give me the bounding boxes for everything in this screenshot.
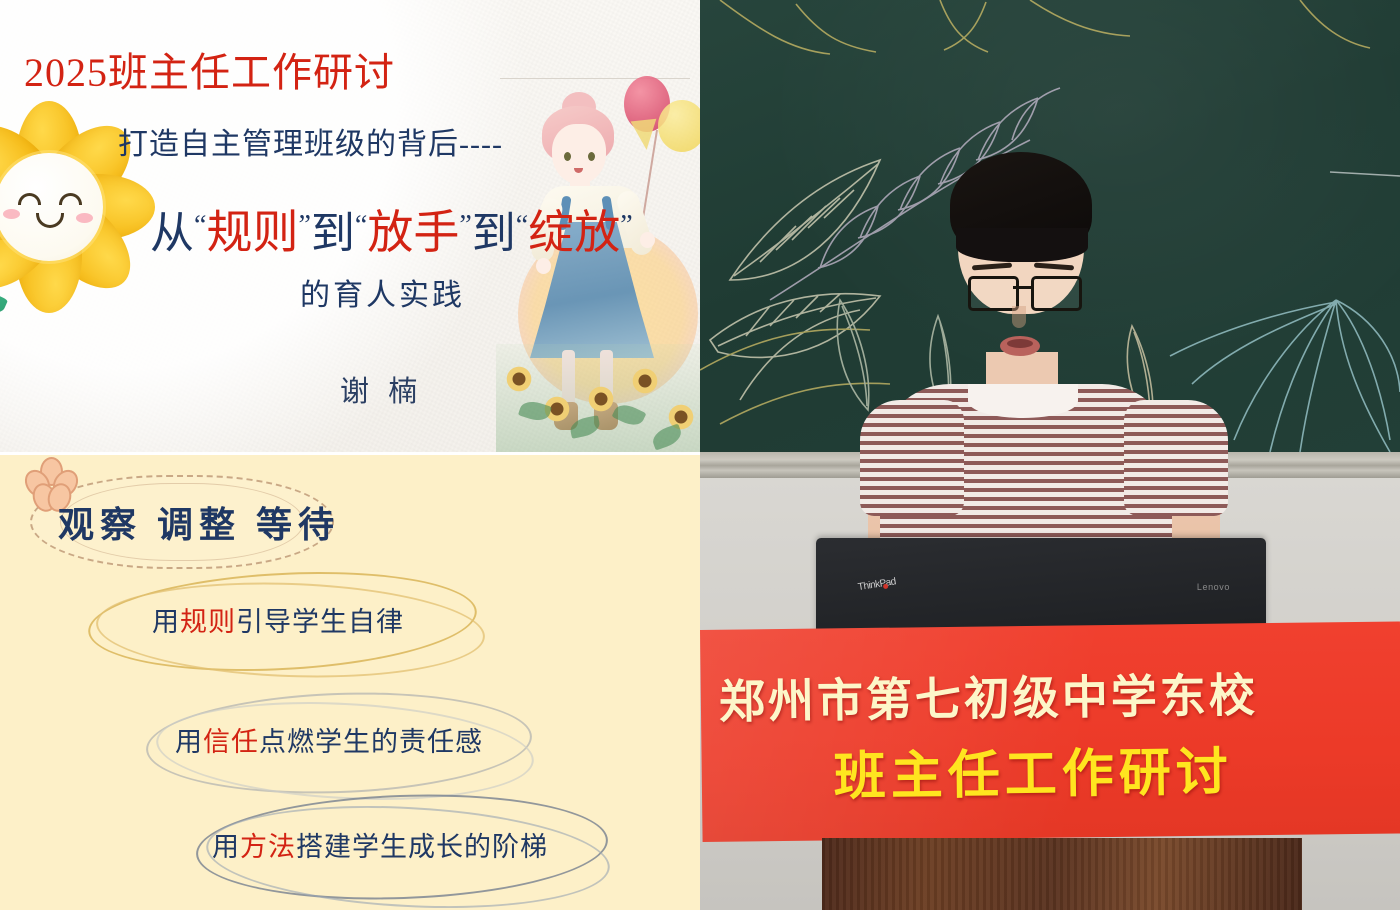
slide-title-line4: 的育人实践 [300, 270, 465, 314]
slide-title-heading: 2025班主任工作研讨 [24, 40, 395, 98]
quote-close-2: ” [459, 210, 471, 241]
banner-line-event: 班主任工作研讨 [833, 730, 1233, 810]
point-1-highlight: 规则 [180, 607, 236, 637]
quote-close-3: ” [620, 210, 632, 241]
mouth [1000, 336, 1040, 356]
points-heading-group: 观察 调整 等待 [30, 475, 330, 565]
point-2-highlight: 信任 [203, 727, 259, 757]
shirt-collar [968, 384, 1078, 418]
quote-open-1: “ [194, 210, 206, 241]
quote-open-2: “ [355, 210, 367, 241]
eyeglasses-icon [968, 276, 1076, 306]
slides-column: 2025班主任工作研讨 打造自主管理班级的背后---- 从“规则”到“放手”到“… [0, 0, 700, 910]
line3-word-letgo: 放手 [367, 207, 459, 258]
line3-seg3: 到 [472, 209, 516, 258]
left-sleeve [860, 400, 964, 516]
point-text-2: 用信任点燃学生的责任感 [175, 720, 483, 759]
point-3-highlight: 方法 [240, 832, 296, 862]
quote-close-1: ” [298, 210, 310, 241]
line3-seg1: 从 [150, 209, 194, 258]
thinkpad-logo: ThinkPad [851, 577, 893, 596]
point-1-suffix: 引导学生自律 [236, 607, 404, 637]
screenshot-root: 2025班主任工作研讨 打造自主管理班级的背后---- 从“规则”到“放手”到“… [0, 0, 1400, 910]
wooden-podium [822, 838, 1302, 910]
point-1-prefix: 用 [152, 607, 180, 637]
point-2-suffix: 点燃学生的责任感 [259, 727, 483, 757]
line3-word-bloom: 绽放 [528, 207, 620, 258]
points-heading: 观察 调整 等待 [58, 496, 340, 548]
point-text-3: 用方法搭建学生成长的阶梯 [212, 825, 548, 864]
thinkpad-logo-text: ThinkPad [857, 576, 896, 593]
sunflower-face [0, 153, 103, 261]
line3-word-rule: 规则 [206, 207, 298, 258]
conference-room-photo: ThinkPad Lenovo 郑州市第七初级中学东校 班主任工作研讨 [700, 0, 1400, 910]
line3-seg2: 到 [311, 209, 355, 258]
slide-title-line3: 从“规则”到“放手”到“绽放” [150, 196, 633, 262]
point-text-1: 用规则引导学生自律 [152, 600, 404, 639]
presenter-name: 谢 楠 [340, 368, 423, 410]
quote-open-3: “ [516, 210, 528, 241]
point-3-suffix: 搭建学生成长的阶梯 [296, 832, 548, 862]
banner-line-school: 郑州市第七初级中学东校 [718, 659, 1258, 732]
presentation-title-slide: 2025班主任工作研讨 打造自主管理班级的背后---- 从“规则”到“放手”到“… [0, 0, 700, 452]
point-2-prefix: 用 [175, 727, 203, 757]
point-3-prefix: 用 [212, 832, 240, 862]
watercolor-girl-illustration [496, 72, 700, 452]
bangs [956, 228, 1088, 262]
presentation-points-slide: 观察 调整 等待 用规则引导学生自律 用信任点燃学生的责任感 用方法搭建学生成长… [0, 455, 700, 910]
nose [1012, 306, 1026, 328]
event-banner: 郑州市第七初级中学东校 班主任工作研讨 [700, 621, 1400, 842]
right-sleeve [1124, 400, 1228, 516]
lenovo-brand-text: Lenovo [1197, 582, 1230, 592]
slide-title-subtitle: 打造自主管理班级的背后---- [118, 119, 503, 163]
